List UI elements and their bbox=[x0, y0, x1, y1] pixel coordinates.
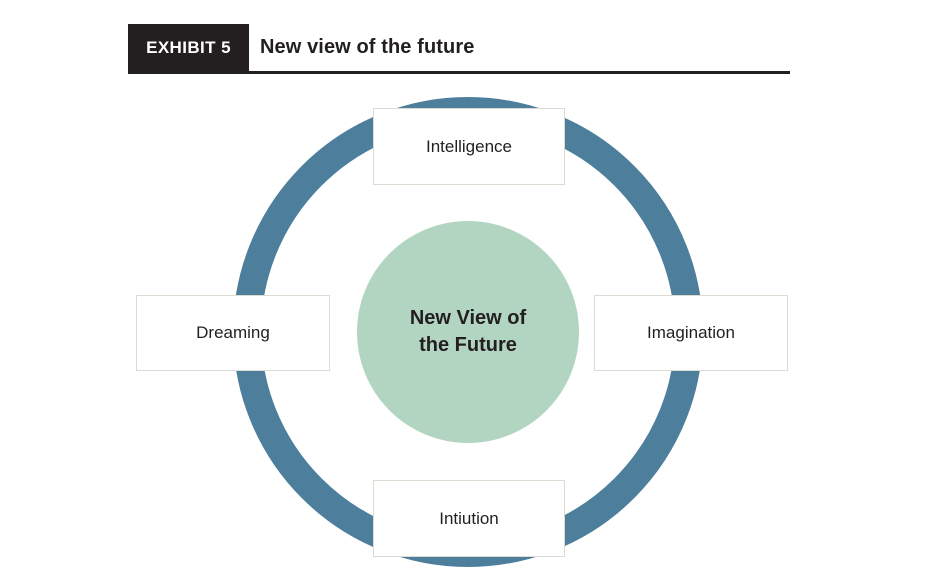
node-intuition-label: Intiution bbox=[439, 509, 499, 529]
center-node: New View of the Future bbox=[357, 221, 579, 443]
node-intuition[interactable]: Intiution bbox=[373, 480, 565, 557]
node-imagination[interactable]: Imagination bbox=[594, 295, 788, 371]
node-intelligence-label: Intelligence bbox=[426, 137, 512, 157]
node-dreaming[interactable]: Dreaming bbox=[136, 295, 330, 371]
node-dreaming-label: Dreaming bbox=[196, 323, 270, 343]
cycle-diagram: New View of the Future Intelligence Imag… bbox=[0, 0, 950, 575]
center-node-label: New View of the Future bbox=[410, 305, 526, 359]
node-imagination-label: Imagination bbox=[647, 323, 735, 343]
node-intelligence[interactable]: Intelligence bbox=[373, 108, 565, 185]
